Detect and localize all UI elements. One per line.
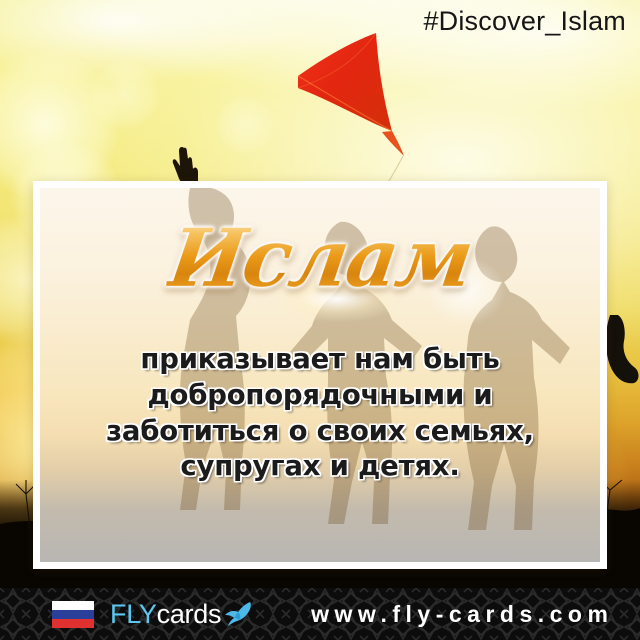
footer-bar: FLY cards www.fly-cards.com bbox=[0, 588, 640, 640]
quote-frame: Ислам приказывает нам быть добропорядочн… bbox=[33, 181, 607, 569]
child-arm-silhouette bbox=[604, 313, 640, 385]
website-url[interactable]: www.fly-cards.com bbox=[311, 601, 613, 628]
quote-card: #Discover_Islam Ислам bbox=[0, 0, 640, 640]
quote-line: заботиться о своих семьях, bbox=[50, 414, 590, 450]
hashtag-label: #Discover_Islam bbox=[423, 6, 626, 37]
footer-content: FLY cards www.fly-cards.com bbox=[0, 588, 640, 640]
child-hand-silhouette bbox=[172, 146, 206, 186]
quote-line: супругах и детях. bbox=[50, 449, 590, 485]
dove-icon bbox=[223, 601, 253, 627]
kite-icon bbox=[292, 28, 417, 158]
bokeh-light bbox=[90, 60, 160, 130]
flycards-logo[interactable]: FLY cards bbox=[110, 599, 253, 630]
brand-cards-text: cards bbox=[157, 599, 222, 630]
title-container: Ислам bbox=[40, 218, 600, 298]
bokeh-light bbox=[215, 95, 275, 155]
quote-body: приказывает нам быть добропорядочными и … bbox=[50, 342, 590, 485]
page-title: Ислам bbox=[164, 218, 476, 298]
quote-line: добропорядочными и bbox=[50, 378, 590, 414]
quote-line: приказывает нам быть bbox=[50, 342, 590, 378]
quote-frame-inner: Ислам приказывает нам быть добропорядочн… bbox=[40, 188, 600, 562]
brand-fly-text: FLY bbox=[110, 599, 157, 630]
russian-flag-icon bbox=[52, 601, 94, 628]
